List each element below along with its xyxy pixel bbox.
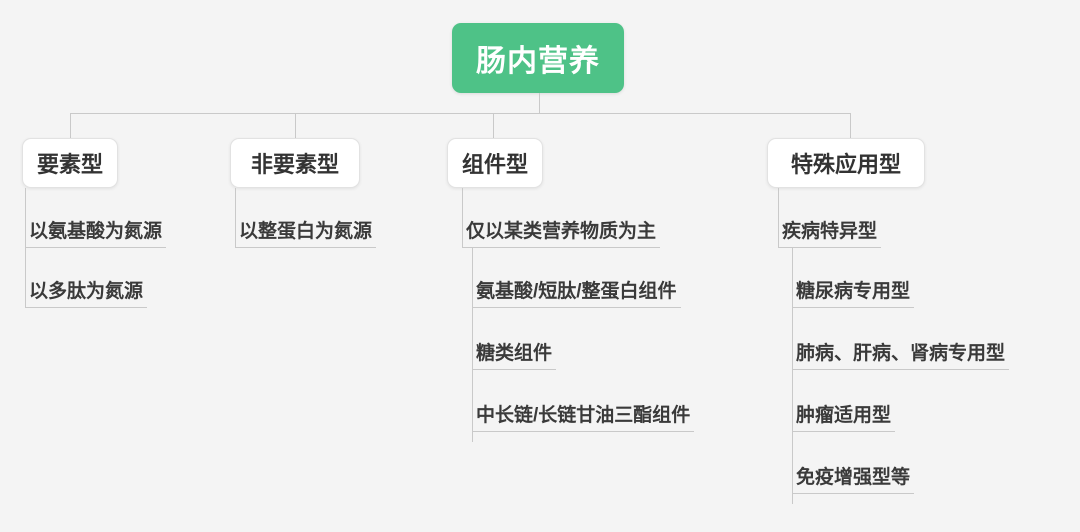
leaf-underline	[792, 431, 895, 432]
mindmap-canvas: 肠内营养 要素型 以氨基酸为氮源 以多肽为氮源 非要素型 以整蛋白为氮源 组件型…	[0, 0, 1080, 532]
leaf-label: 氨基酸/短肽/整蛋白组件	[472, 282, 681, 307]
leaf-label: 疾病特异型	[778, 222, 881, 247]
connector-root-stem	[539, 93, 540, 113]
branch-node-teshuyingyongxing[interactable]: 特殊应用型	[767, 138, 925, 188]
connector-level2-bus	[70, 113, 850, 114]
branch-node-label: 非要素型	[251, 147, 339, 179]
leaf-underline	[25, 307, 147, 308]
leaf-label: 免疫增强型等	[792, 468, 914, 493]
leaf-underline	[792, 307, 914, 308]
leaf-zujianxing-sub-1[interactable]: 氨基酸/短肽/整蛋白组件	[472, 282, 681, 308]
leaf-zujianxing-sub-2[interactable]: 糖类组件	[472, 344, 556, 370]
leaf-label: 糖尿病专用型	[792, 282, 914, 307]
leaf-teshu-sub-1[interactable]: 糖尿病专用型	[792, 282, 914, 308]
leaf-underline	[778, 247, 881, 248]
leaf-yaosuxing-2[interactable]: 以多肽为氮源	[25, 282, 147, 308]
leaf-feiyaosuxing-1[interactable]: 以整蛋白为氮源	[235, 222, 376, 248]
leaf-underline	[25, 247, 166, 248]
leaf-teshu-sub-2[interactable]: 肺病、肝病、肾病专用型	[792, 344, 1009, 370]
leaf-label: 以整蛋白为氮源	[235, 222, 376, 247]
leaf-label: 肿瘤适用型	[792, 406, 895, 431]
leaf-label: 肺病、肝病、肾病专用型	[792, 344, 1009, 369]
leaf-underline	[472, 307, 681, 308]
leaf-label: 以多肽为氮源	[25, 282, 147, 307]
leaf-label: 中长链/长链甘油三酯组件	[472, 406, 694, 431]
root-node-label: 肠内营养	[476, 36, 600, 80]
leaf-teshu-sub-4[interactable]: 免疫增强型等	[792, 468, 914, 494]
leaf-label: 以氨基酸为氮源	[25, 222, 166, 247]
connector-drop-branch-3	[493, 113, 494, 138]
branch-node-label: 要素型	[37, 147, 103, 179]
branch-node-feiyaosuxing[interactable]: 非要素型	[230, 138, 360, 188]
leaf-underline	[235, 247, 376, 248]
leaf-underline	[792, 369, 1009, 370]
leaf-underline	[472, 369, 556, 370]
connector-drop-branch-1	[70, 113, 71, 138]
leaf-yaosuxing-1[interactable]: 以氨基酸为氮源	[25, 222, 166, 248]
leaf-underline	[792, 493, 914, 494]
connector-drop-branch-2	[295, 113, 296, 138]
leaf-teshu-sub-3[interactable]: 肿瘤适用型	[792, 406, 895, 432]
leaf-zujianxing-sub-3[interactable]: 中长链/长链甘油三酯组件	[472, 406, 694, 432]
leaf-underline	[462, 247, 660, 248]
branch-node-label: 组件型	[462, 147, 528, 179]
leaf-zujianxing-1[interactable]: 仅以某类营养物质为主	[462, 222, 660, 248]
leaf-underline	[472, 431, 694, 432]
leaf-label: 糖类组件	[472, 344, 556, 369]
root-node-enteral-nutrition[interactable]: 肠内营养	[452, 23, 624, 93]
connector-drop-branch-4	[850, 113, 851, 138]
branch-node-label: 特殊应用型	[791, 147, 901, 179]
branch-node-zujianxing[interactable]: 组件型	[447, 138, 543, 188]
leaf-label: 仅以某类营养物质为主	[462, 222, 660, 247]
leaf-teshuyingyongxing-1[interactable]: 疾病特异型	[778, 222, 881, 248]
branch-node-yaosuxing[interactable]: 要素型	[22, 138, 118, 188]
